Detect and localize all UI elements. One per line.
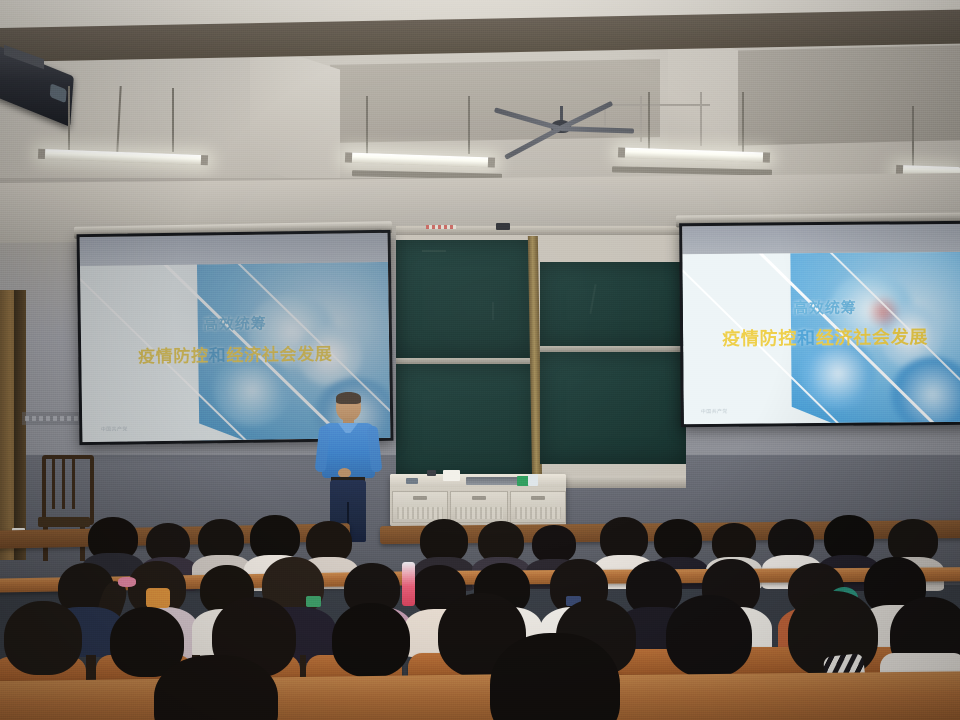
lecture-hall-photo: 高效统筹 疫情防控和经济社会发展 中国共产党 高效统筹 (0, 0, 960, 720)
slide-title: 高效统筹 (683, 296, 960, 319)
tube-end-cap (763, 152, 770, 162)
snack-bag[interactable] (146, 588, 170, 608)
light-hanger-wire (172, 88, 174, 152)
podium-remote[interactable] (406, 478, 418, 484)
slide-subtitle-part-3: 经济社会发展 (226, 345, 332, 366)
slide-logo: 中国共产党 (701, 408, 728, 415)
slide-subtitle-part-3: 经济社会发展 (816, 327, 929, 349)
chair-slat (72, 459, 75, 509)
wall-notice-sign (22, 412, 84, 425)
slide-title: 高效统筹 (81, 311, 389, 336)
conduit-pipe-horizontal (604, 104, 710, 106)
blackboard-panel-lower-right (540, 352, 686, 464)
chalk-smudge (422, 250, 446, 252)
desk-foreground-right (600, 671, 960, 720)
light-hanger-wire (468, 96, 470, 154)
tube-end-cap (201, 155, 208, 165)
light-hanger-wire (68, 86, 70, 152)
podium-white-item[interactable] (528, 474, 538, 486)
slide-logo: 中国共产党 (101, 426, 128, 433)
chalk-smudge (492, 302, 494, 320)
wall-sign-text-line (25, 416, 79, 421)
light-hanger-wire (912, 106, 914, 168)
slide-right: 高效统筹 疫情防控和经济社会发展 中国共产党 (682, 251, 960, 424)
projector-lens-icon (50, 83, 67, 103)
podium-tissue-box[interactable] (443, 470, 460, 481)
drawer-handle[interactable] (531, 496, 545, 500)
tube-end-cap (618, 147, 625, 157)
green-item[interactable] (306, 596, 321, 607)
right-screen[interactable]: 高效统筹 疫情防控和经济社会发展 中国共产党 (679, 221, 960, 428)
conduit-pipe-vertical (700, 92, 702, 146)
tube-end-cap (488, 157, 495, 167)
student-head (532, 525, 576, 563)
screen-top-band (80, 233, 388, 266)
blackboard-panel-upper-right (540, 262, 686, 348)
light-hanger-wire (366, 96, 368, 154)
blackboard-eraser[interactable] (496, 223, 510, 230)
slide-subtitle-part-1: 疫情防控 (722, 328, 797, 350)
student-head-foreground (332, 603, 410, 677)
drawer-handle[interactable] (413, 496, 427, 500)
chair-slat (62, 459, 65, 509)
conduit-pipe-vertical-2 (640, 96, 642, 142)
water-bottle[interactable] (402, 562, 415, 606)
slide-subtitle: 疫情防控和经济社会发展 (683, 323, 960, 351)
blackboard-panel-lower-left (396, 364, 536, 480)
blackboard (396, 232, 686, 484)
student-head-closest (490, 633, 620, 720)
speaker-hair (336, 392, 361, 404)
screen-top-band (682, 224, 960, 254)
drawer-handle[interactable] (472, 496, 486, 500)
slide-subtitle: 疫情防控和经济社会发展 (81, 339, 389, 368)
ceiling-recess-panel-right (720, 45, 960, 146)
light-hanger-wire (648, 92, 650, 152)
blackboard-panel-upper-left (396, 240, 536, 358)
audience-seating (0, 505, 960, 720)
student-head (654, 519, 702, 561)
blackboard-chalk-row[interactable] (426, 225, 456, 229)
slide-subtitle-part-1: 疫情防控 (138, 347, 209, 368)
podium-small-device[interactable] (427, 470, 436, 476)
slide-subtitle-part-2: 和 (209, 346, 227, 366)
light-hanger-wire (742, 92, 744, 152)
tube-end-cap (345, 152, 352, 162)
chair-slat (52, 459, 55, 509)
student-head-foreground (666, 595, 752, 677)
student-head-foreground (4, 601, 82, 675)
tube-end-cap (38, 149, 45, 159)
hair-tie-accessory (118, 577, 136, 587)
slide-subtitle-part-2: 和 (797, 328, 816, 349)
